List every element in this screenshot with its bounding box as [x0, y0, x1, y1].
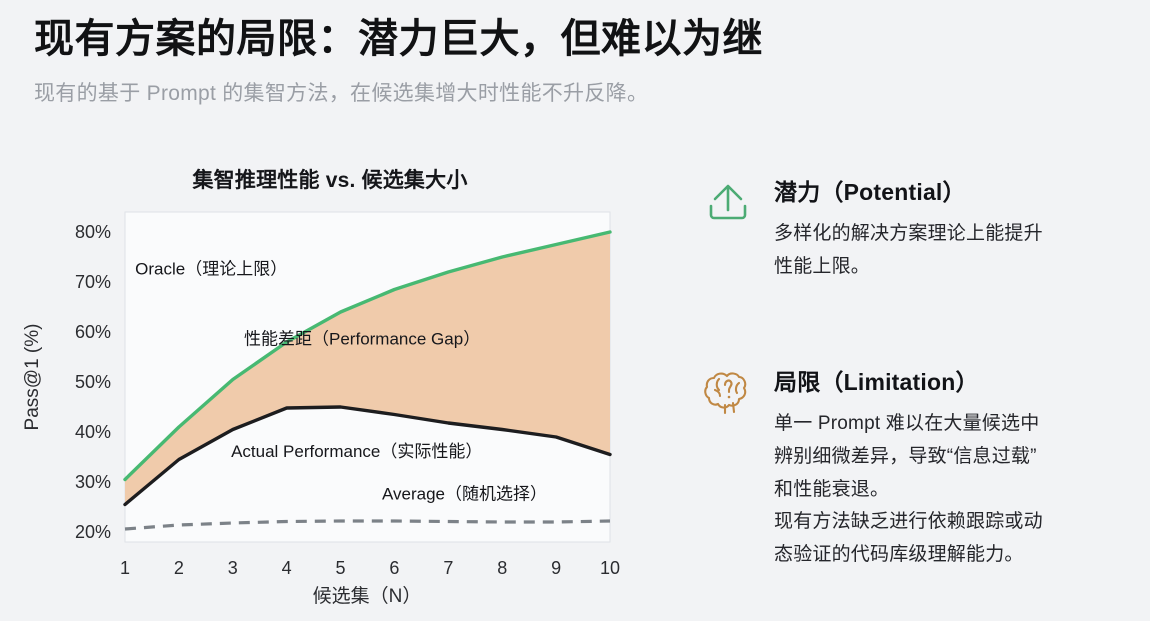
key-point-body: 潜力（Potential） 多样化的解决方案理论上能提升 性能上限。	[774, 172, 1140, 283]
axis-tick-label: 40%	[75, 422, 111, 442]
chart-figure: 20%30%40%50%60%70%80% 12345678910 Oracle…	[0, 202, 680, 612]
axis-tick-label: 3	[228, 558, 238, 578]
key-point-body: 局限（Limitation） 单一 Prompt 难以在大量候选中 辨别细微差异…	[774, 362, 1140, 571]
axis-tick-label: 20%	[75, 522, 111, 542]
axis-tick-label: 70%	[75, 272, 111, 292]
key-point-limitation: 局限（Limitation） 单一 Prompt 难以在大量候选中 辨别细微差异…	[700, 362, 1140, 571]
chart-annotation-label: Average（随机选择）	[382, 485, 547, 504]
axis-tick-label: 9	[551, 558, 561, 578]
axis-tick-label: 7	[443, 558, 453, 578]
y-axis-tick-labels: 20%30%40%50%60%70%80%	[75, 222, 111, 542]
key-point-line: 现有方法缺乏进行依赖跟踪或动	[774, 507, 1140, 538]
key-point-line: 辨别细微差异，导致“信息过载”	[774, 442, 1140, 473]
axis-tick-label: 5	[336, 558, 346, 578]
brain-question-icon	[700, 364, 756, 420]
key-point-heading: 局限（Limitation）	[774, 363, 1140, 397]
performance-line-chart: 20%30%40%50%60%70%80% 12345678910 Oracle…	[0, 202, 680, 612]
axis-tick-label: 8	[497, 558, 507, 578]
key-point-line: 多样化的解决方案理论上能提升	[774, 219, 1140, 250]
axis-tick-label: 2	[174, 558, 184, 578]
slide-header: 现有方案的局限：潜力巨大，但难以为继 现有的基于 Prompt 的集智方法，在候…	[34, 16, 1114, 107]
axis-tick-label: 1	[120, 558, 130, 578]
chart-annotation-label: Actual Performance（实际性能）	[231, 442, 482, 461]
slide-content: 集智推理性能 vs. 候选集大小 20%30%40%50%60%70%80% 1…	[0, 150, 1150, 621]
page-title: 现有方案的局限：潜力巨大，但难以为继	[34, 16, 1114, 63]
key-point-heading: 潜力（Potential）	[774, 173, 1140, 207]
x-axis-title: 候选集（N）	[313, 585, 422, 607]
key-points-panel: 潜力（Potential） 多样化的解决方案理论上能提升 性能上限。	[700, 150, 1140, 621]
key-point-potential: 潜力（Potential） 多样化的解决方案理论上能提升 性能上限。	[700, 172, 1140, 283]
axis-tick-label: 10	[600, 558, 620, 578]
axis-tick-label: 50%	[75, 372, 111, 392]
chart-annotation-label: 性能差距（Performance Gap）	[244, 330, 480, 349]
key-point-line: 单一 Prompt 难以在大量候选中	[774, 409, 1140, 440]
axis-tick-label: 4	[282, 558, 292, 578]
chart-annotation-label: Oracle（理论上限）	[135, 260, 287, 279]
axis-tick-label: 6	[389, 558, 399, 578]
chart-panel: 集智推理性能 vs. 候选集大小 20%30%40%50%60%70%80% 1…	[0, 150, 680, 621]
key-point-line: 和性能衰退。	[774, 475, 1140, 506]
key-point-line: 性能上限。	[774, 252, 1140, 283]
axis-tick-label: 30%	[75, 472, 111, 492]
y-axis-title: Pass@1 (%)	[22, 324, 43, 431]
x-axis-tick-labels: 12345678910	[120, 558, 620, 578]
page-subtitle: 现有的基于 Prompt 的集智方法，在候选集增大时性能不升反降。	[34, 77, 1114, 107]
arrow-up-export-icon	[700, 174, 756, 230]
axis-tick-label: 80%	[75, 222, 111, 242]
axis-tick-label: 60%	[75, 322, 111, 342]
key-point-line: 态验证的代码库级理解能力。	[774, 540, 1140, 571]
chart-title: 集智推理性能 vs. 候选集大小	[0, 164, 660, 194]
